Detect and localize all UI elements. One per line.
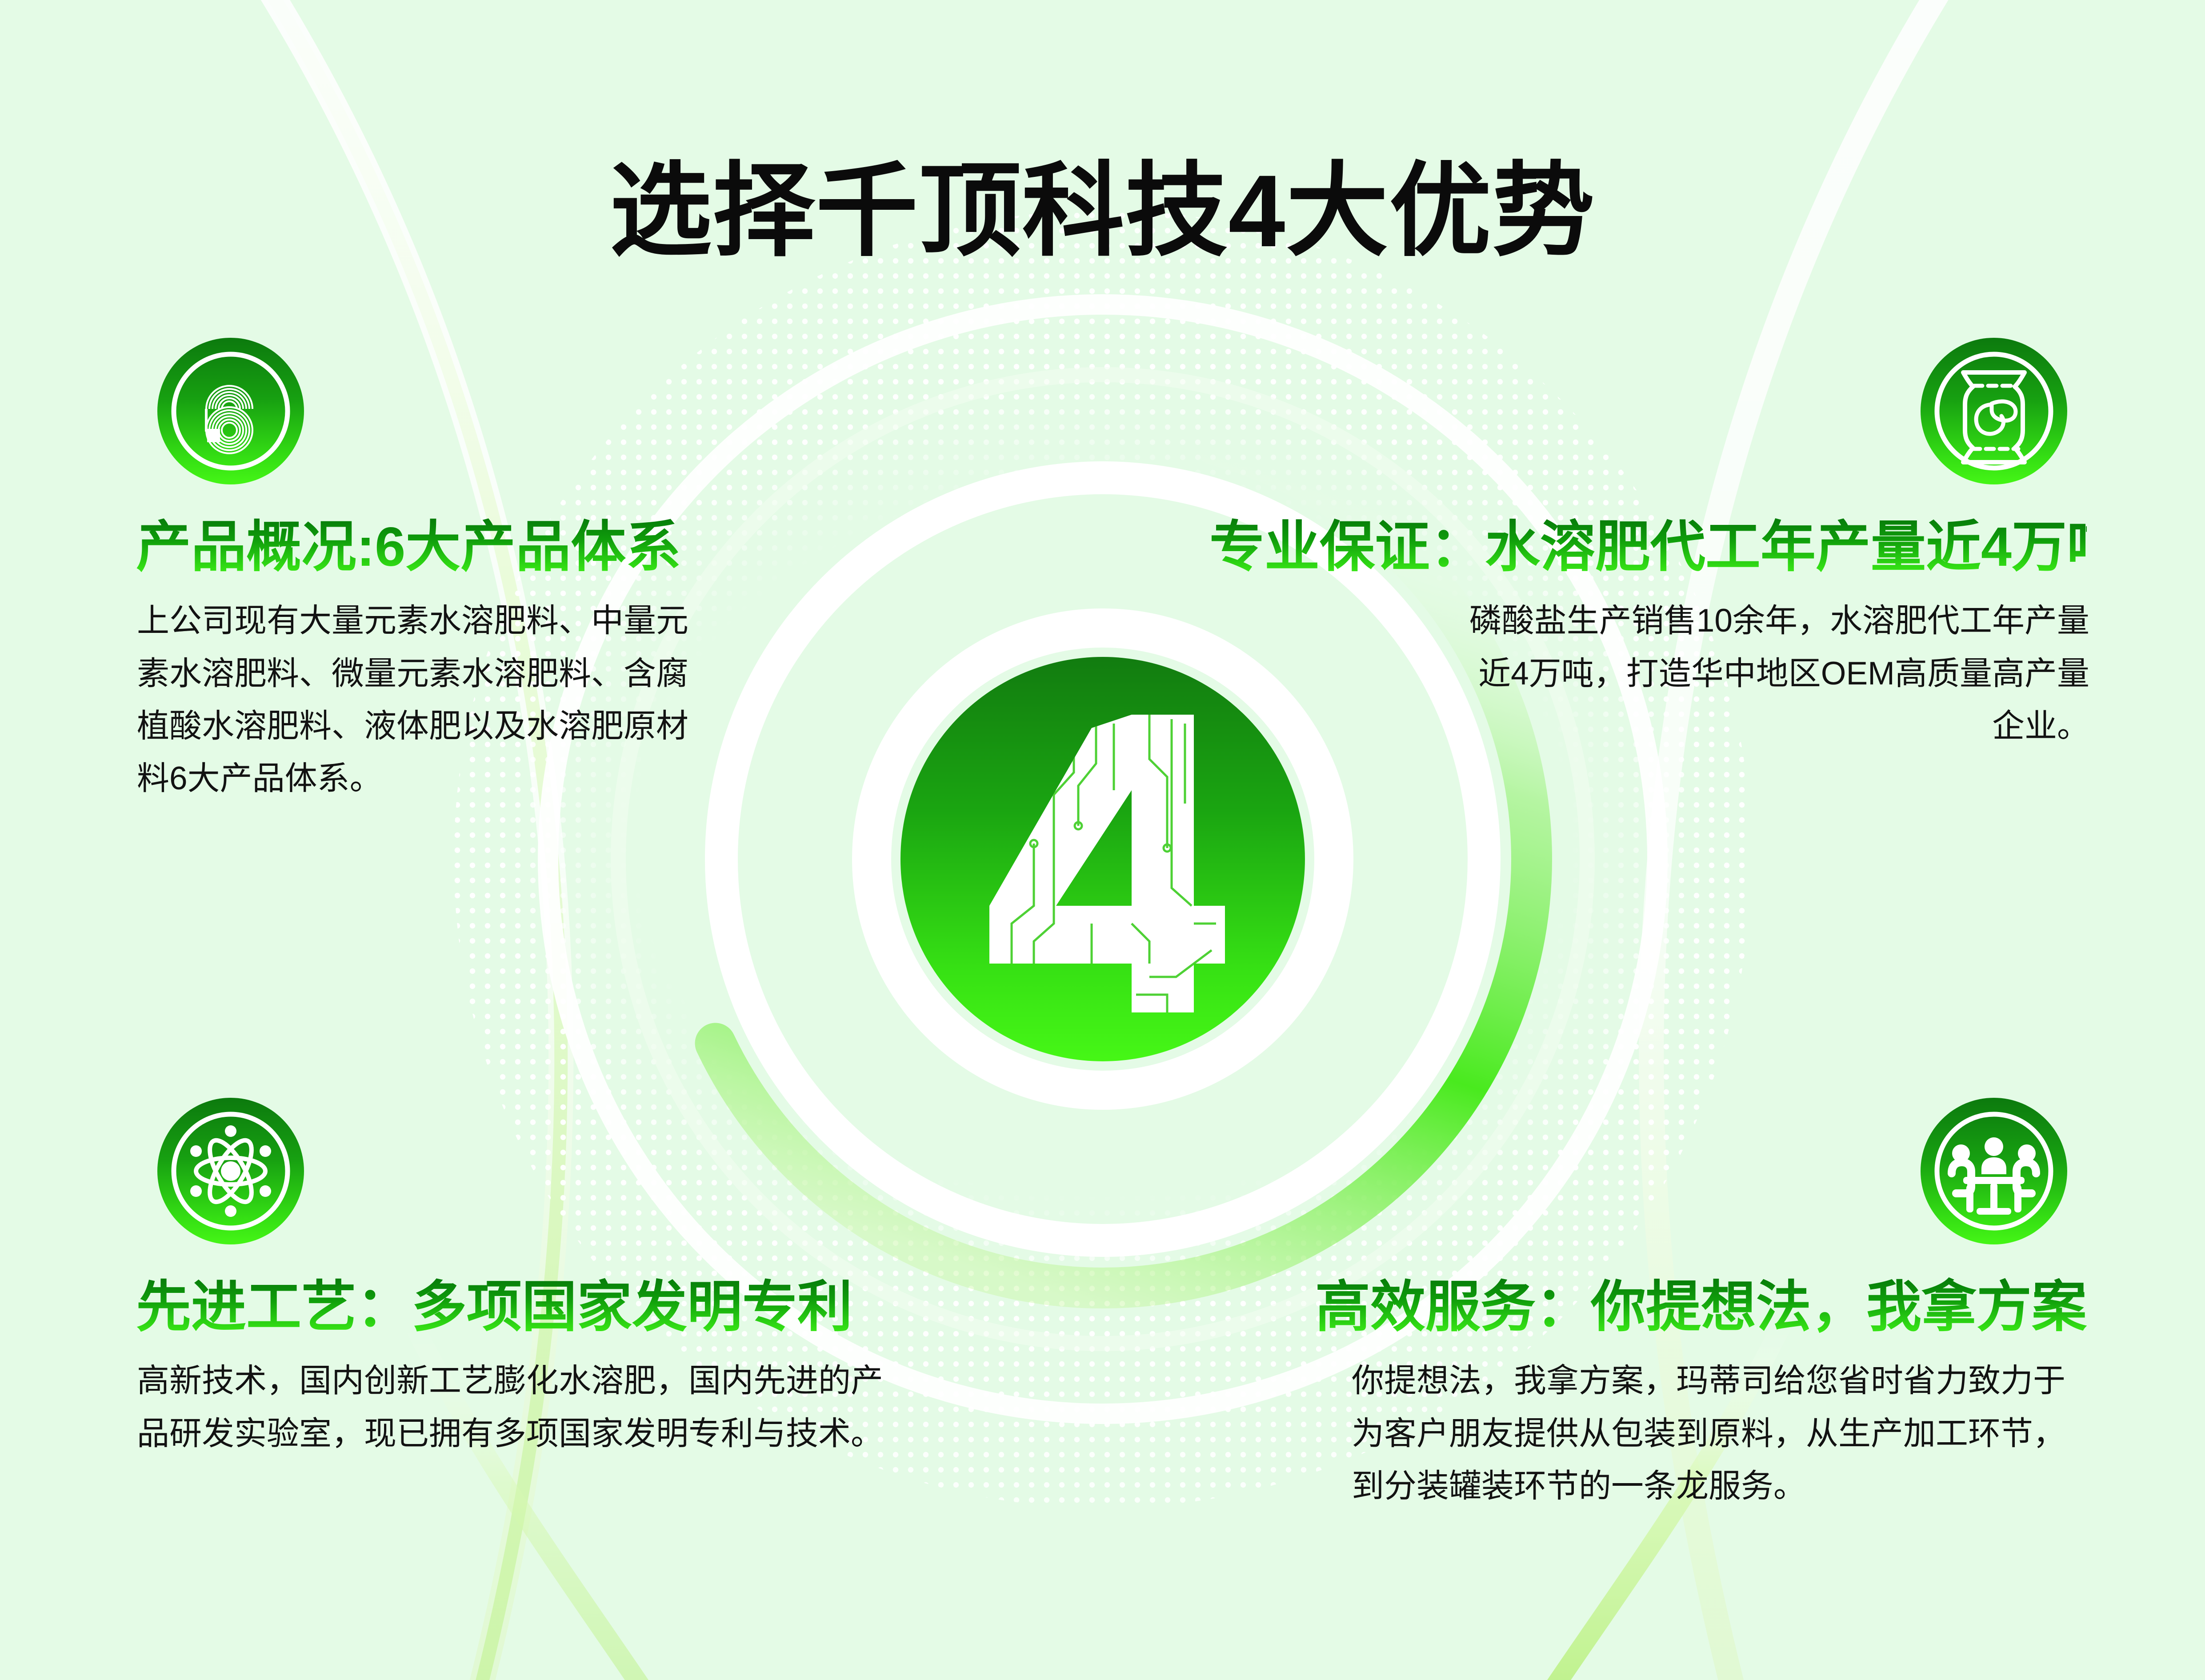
advantage-block-top-right: 专业保证：水溶肥代工年产量近4万吨 磷酸盐生产销售10余年，水溶肥代工年产量近4…	[1209, 338, 2089, 752]
advantage-block-bottom-right: 高效服务：你提想法，我拿方案 你提想法，我拿方案，玛蒂司给您省时省力致力于为客户…	[1289, 1098, 2089, 1512]
advantage-heading-top-right: 专业保证：水溶肥代工年产量近4万吨	[1209, 515, 2087, 580]
atom-icon	[157, 1098, 304, 1244]
advantage-block-bottom-left: 先进工艺：多项国家发明专利 高新技术，国内创新工艺膨化水溶肥，国内先进的产品研发…	[133, 1098, 933, 1460]
six-rings-icon	[157, 338, 304, 484]
advantage-heading-top-left: 产品概况:6大产品体系	[136, 515, 724, 580]
infographic-canvas: 选择千顶科技4大优势	[0, 0, 2205, 1680]
advantage-body-bottom-left: 高新技术，国内创新工艺膨化水溶肥，国内先进的产品研发实验室，现已拥有多项国家发明…	[137, 1355, 906, 1460]
advantage-block-top-left: 产品概况:6大产品体系 上公司现有大量元素水溶肥料、中量元素水溶肥料、微量元素水…	[133, 338, 724, 805]
meeting-table-icon	[1921, 1098, 2067, 1244]
advantage-heading-bottom-right: 高效服务：你提想法，我拿方案	[1289, 1275, 2087, 1340]
advantage-heading-bottom-left: 先进工艺：多项国家发明专利	[136, 1275, 933, 1340]
advantage-body-top-left: 上公司现有大量元素水溶肥料、中量元素水溶肥料、微量元素水溶肥料、含腐植酸水溶肥料…	[137, 595, 701, 805]
advantage-body-top-right: 磷酸盐生产销售10余年，水溶肥代工年产量近4万吨，打造华中地区OEM高质量高产量…	[1461, 595, 2089, 752]
fertilizer-bag-icon	[1921, 338, 2067, 484]
page-title: 选择千顶科技4大优势	[0, 157, 2205, 265]
advantage-body-bottom-right: 你提想法，我拿方案，玛蒂司给您省时省力致力于为客户朋友提供从包装到原料，从生产加…	[1352, 1355, 2089, 1512]
